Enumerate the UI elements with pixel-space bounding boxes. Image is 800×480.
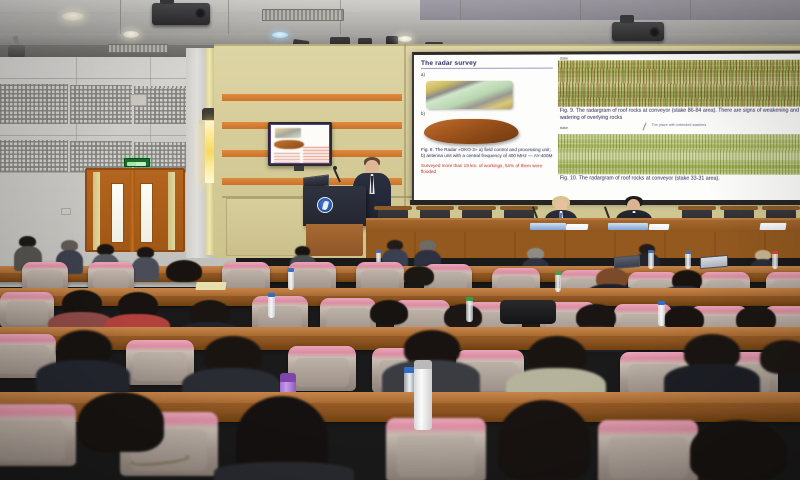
wall-control-plate[interactable] — [130, 94, 147, 106]
monitor-slide-image-a — [275, 128, 301, 138]
door-window — [140, 183, 153, 243]
auditorium-seat[interactable] — [288, 346, 356, 391]
water-bottle[interactable] — [555, 274, 561, 292]
audience-desk-row2-top — [0, 288, 800, 296]
auditorium-seat[interactable] — [386, 418, 486, 480]
audience-head — [760, 340, 800, 374]
ceiling-seam — [460, 0, 461, 20]
panel-chair-frame — [458, 206, 496, 210]
panel-chair-frame — [678, 206, 716, 210]
acoustic-panel — [0, 140, 68, 172]
wall-outlet[interactable] — [61, 208, 71, 215]
light-column — [205, 48, 214, 110]
acoustic-panel — [150, 88, 188, 124]
water-bottle[interactable] — [685, 253, 691, 269]
panel-chair-frame — [416, 206, 454, 210]
audience-laptop[interactable] — [614, 255, 640, 269]
slide-title: The radar survey — [421, 60, 553, 69]
radar-antenna-photo — [424, 119, 518, 144]
presentation-slide: The radar survey a) b) Fig. 8. The Radar… — [414, 54, 800, 203]
monitor-stand — [294, 166, 304, 171]
table-document[interactable] — [566, 224, 589, 230]
nameplate — [530, 223, 566, 230]
slide-label-b: b) — [421, 111, 553, 116]
backpack[interactable] — [500, 300, 556, 324]
nameplate — [608, 223, 648, 230]
ceiling-panel-right — [420, 0, 800, 20]
acoustic-panel — [70, 85, 132, 124]
monitor-slide-text — [274, 152, 300, 163]
bottle-cap — [268, 293, 275, 297]
tumbler-lid — [414, 360, 432, 369]
monitor-slide-image-b — [274, 140, 304, 149]
monitor-slide-text — [303, 147, 330, 163]
bottle-cap — [288, 268, 294, 272]
auditorium-seat[interactable] — [0, 292, 54, 328]
podium-emblem-icon — [317, 197, 333, 213]
water-bottle[interactable] — [648, 252, 654, 269]
recessed-downlight — [123, 31, 139, 38]
ceiling-seam — [690, 0, 691, 20]
audience-desk-row3-top — [0, 327, 800, 336]
lecture-hall-photo: The radar survey a) b) Fig. 8. The Radar… — [0, 0, 800, 480]
bottle-cap — [466, 297, 473, 301]
blue-indicator-light — [272, 32, 288, 38]
table-document[interactable] — [649, 224, 670, 230]
water-bottle[interactable] — [288, 271, 294, 290]
radargram-image-bottom — [558, 134, 800, 175]
hvac-vent — [262, 9, 344, 21]
audience-head — [498, 400, 590, 480]
light-column-illuminated — [205, 121, 214, 183]
radargram-scale-bottom: stake — [558, 125, 568, 129]
audience-head — [166, 260, 202, 282]
recessed-downlight — [398, 36, 412, 42]
door-window — [111, 183, 124, 243]
slide-caption-fig10: Fig. 10. The radargram of roof rocks at … — [558, 174, 800, 182]
ceiling-seam — [120, 0, 121, 34]
wall-seam — [214, 44, 800, 46]
audience-head — [404, 266, 434, 286]
ceiling-seam — [580, 0, 581, 20]
audience-laptop[interactable] — [700, 255, 728, 269]
audience-shoulders — [36, 360, 130, 394]
audience-head — [690, 420, 786, 480]
recessed-downlight — [62, 12, 84, 21]
panel-chair-frame — [762, 206, 800, 210]
radargram-image-top — [558, 60, 800, 107]
slide-left-panel: The radar survey a) b) Fig. 8. The Radar… — [414, 54, 558, 201]
slide-caption-fig9: Fig. 9. The radargram of roof rocks at c… — [558, 107, 800, 122]
bottle-cap — [685, 251, 691, 254]
acoustic-panel — [0, 84, 68, 124]
bottle-cap — [648, 250, 654, 253]
slide-right-panel: stake Fig. 9. The radargram of roof rock… — [558, 54, 800, 203]
ceiling-projector — [152, 3, 210, 25]
audience-head — [78, 392, 164, 452]
slide-highlight-text: Surveyed more than 19 km. of workings, 5… — [421, 163, 553, 175]
door-trim — [93, 172, 100, 250]
wall-monitor — [268, 122, 332, 166]
bottle-cap — [555, 271, 561, 275]
panel-chair-frame — [374, 206, 412, 210]
water-bottle[interactable] — [466, 300, 473, 322]
tumbler-lid — [280, 373, 296, 382]
bottle-cap — [658, 301, 665, 305]
auditorium-seat[interactable] — [0, 404, 76, 466]
auditorium-seat[interactable] — [598, 420, 698, 480]
bottle-cap — [772, 251, 778, 254]
notepad[interactable] — [195, 282, 226, 290]
slide-figure-caption: Fig. 8. The Radar «OKO-2» a) field contr… — [421, 147, 553, 159]
projection-screen: The radar survey a) b) Fig. 8. The Radar… — [412, 51, 800, 203]
hvac-vent — [108, 44, 168, 53]
exit-sign — [124, 158, 150, 167]
bottle-cap — [376, 250, 381, 253]
radargram-annotation: The place with extended washers — [651, 122, 713, 126]
slide-label-a: a) — [421, 72, 553, 77]
door-mullion — [130, 170, 135, 252]
water-bottle[interactable] — [268, 296, 275, 318]
ceiling-projector-secondary — [612, 22, 664, 41]
audience-shoulders — [214, 462, 354, 480]
wall-accent-stripe — [222, 94, 402, 101]
audience-person — [132, 247, 159, 277]
panel-chair-frame — [720, 206, 758, 210]
audience-head — [370, 300, 408, 325]
wall-monitor-screen — [270, 124, 330, 164]
table-document[interactable] — [760, 223, 787, 230]
door-trim — [168, 172, 175, 250]
water-bottle[interactable] — [772, 253, 778, 269]
light-column — [205, 183, 214, 255]
radar-control-unit-photo — [426, 81, 512, 109]
podium-microphone-head — [333, 166, 337, 170]
screen-bottom-frame — [410, 200, 800, 205]
audience-head — [444, 304, 482, 329]
ceiling-seam — [228, 0, 229, 34]
water-bottle[interactable] — [658, 304, 665, 326]
podium — [303, 186, 366, 226]
white-tumbler[interactable] — [414, 366, 432, 430]
